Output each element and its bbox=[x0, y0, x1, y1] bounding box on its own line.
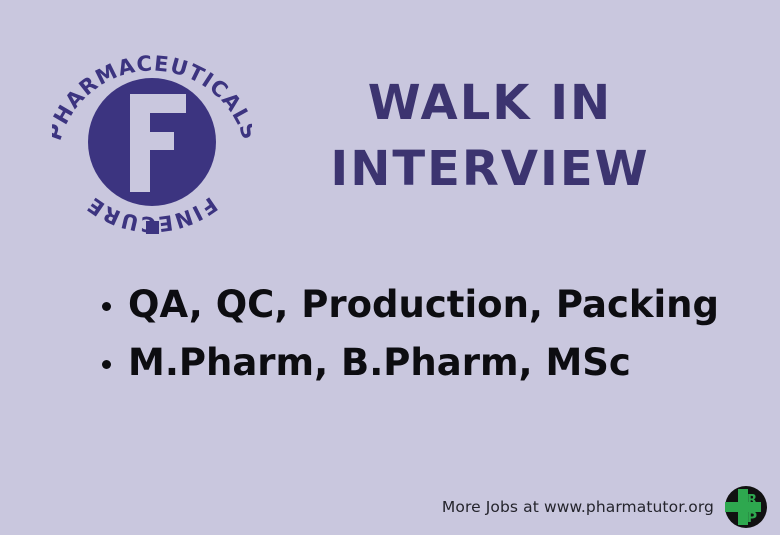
list-item: M.Pharm, B.Pharm, MSc bbox=[96, 334, 756, 392]
poster-canvas: PHARMACEUTICALS FINECURE WALK IN INTERVI… bbox=[0, 0, 780, 535]
logo-separator-dot bbox=[146, 221, 159, 234]
pharmatutor-letter-p: P bbox=[747, 510, 757, 526]
list-item: QA, QC, Production, Packing bbox=[96, 276, 756, 334]
headline-line-1: WALK IN bbox=[290, 70, 690, 136]
list-item-label: QA, QC, Production, Packing bbox=[128, 283, 719, 326]
pharmatutor-logo: R P bbox=[724, 485, 768, 529]
company-logo: PHARMACEUTICALS FINECURE bbox=[52, 32, 252, 247]
bullet-dot-icon bbox=[102, 360, 111, 369]
pharmatutor-letter-r: R bbox=[747, 493, 757, 508]
footer: More Jobs at www.pharmatutor.org R P bbox=[442, 485, 768, 529]
footer-credit-text: More Jobs at www.pharmatutor.org bbox=[442, 498, 714, 516]
requirements-list: QA, QC, Production, Packing M.Pharm, B.P… bbox=[96, 276, 756, 392]
bullet-dot-icon bbox=[102, 302, 111, 311]
page-title: WALK IN INTERVIEW bbox=[290, 70, 690, 202]
headline-line-2: INTERVIEW bbox=[290, 136, 690, 202]
list-item-label: M.Pharm, B.Pharm, MSc bbox=[128, 341, 631, 384]
